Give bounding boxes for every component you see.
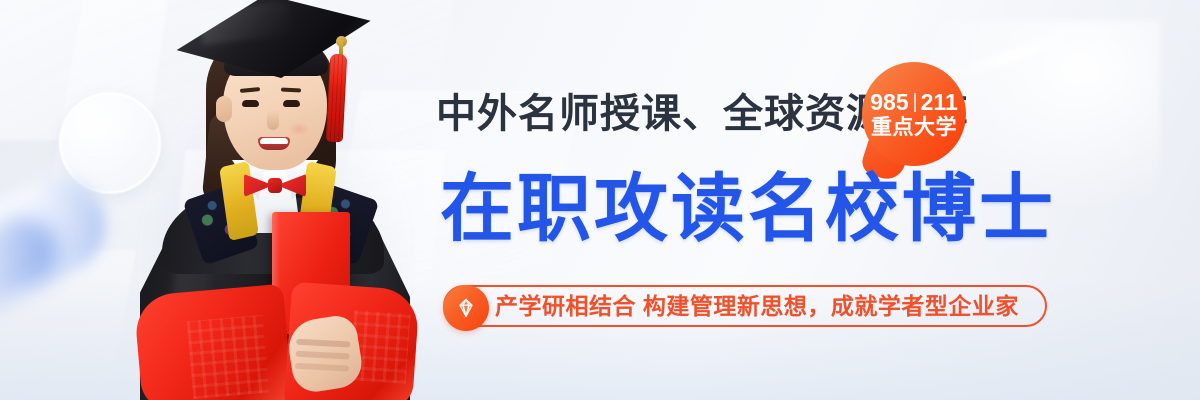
badge-211-label: 211	[921, 91, 958, 114]
university-tier-badge: 985 211 重点大学	[862, 62, 966, 166]
badge-text-group: 985 211 重点大学	[862, 62, 966, 166]
promo-banner: 中外名师授课、全球资源共享 985 211 重点大学 在职攻读名校博士	[0, 0, 1200, 400]
banner-headline: 在职攻读名校博士	[440, 172, 1056, 246]
banner-content: 中外名师授课、全球资源共享 985 211 重点大学 在职攻读名校博士	[0, 0, 1200, 400]
diamond-gem-icon	[443, 285, 489, 331]
banner-tagline-text: 产学研相结合 构建管理新思想，成就学者型企业家	[495, 295, 1019, 318]
badge-985-label: 985	[870, 91, 908, 114]
badge-line-2: 重点大学	[871, 117, 957, 138]
badge-divider	[914, 93, 916, 112]
banner-tagline-pill: 产学研相结合 构建管理新思想，成就学者型企业家	[443, 285, 1047, 327]
badge-line-1: 985 211	[870, 91, 957, 114]
